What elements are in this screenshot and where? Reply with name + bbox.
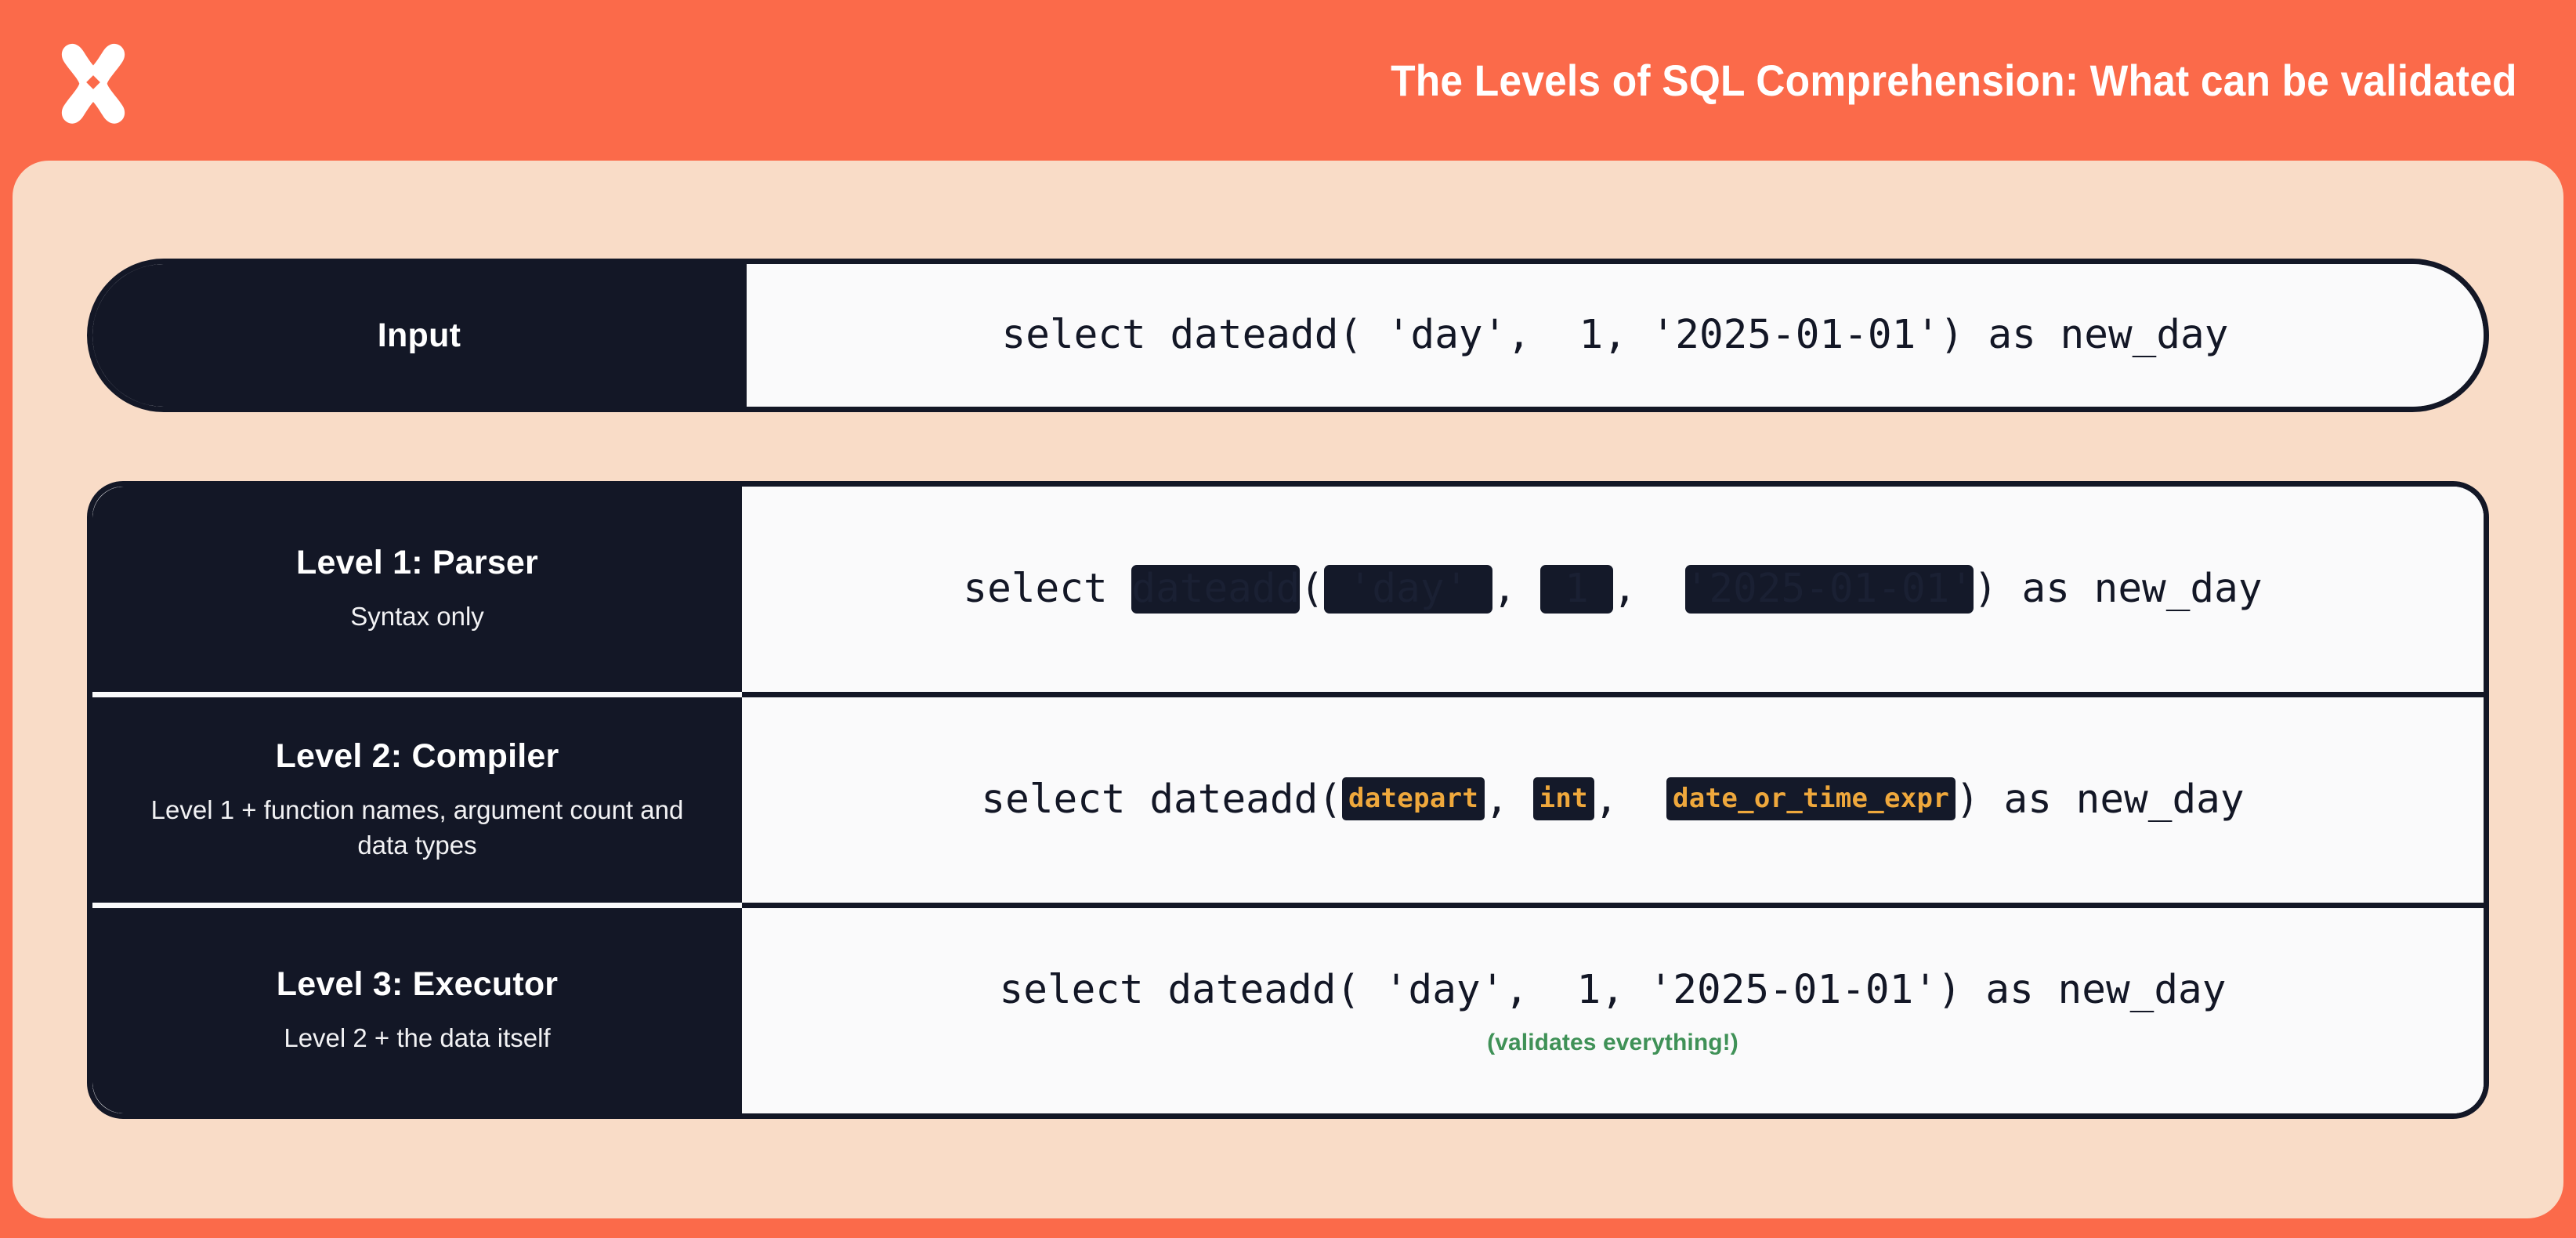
- level-title: Level 1: Parser: [296, 544, 538, 582]
- type-token: int: [1533, 777, 1594, 820]
- level-3-sql-code: select dateadd( 'day', 1, '2025-01-01') …: [1000, 965, 2227, 1015]
- type-token: date_or_time_expr: [1666, 777, 1956, 820]
- redacted-token: '2025-01-01': [1685, 565, 1974, 614]
- redacted-token: dateadd: [1131, 565, 1300, 614]
- level-2-label-cell: Level 2: Compiler Level 1 + function nam…: [92, 692, 742, 903]
- code-text: ,: [1613, 564, 1685, 614]
- level-2-code-cell: select dateadd(datepart, int, date_or_ti…: [742, 697, 2484, 903]
- level-title: Level 2: Compiler: [276, 737, 559, 776]
- validates-everything-note: (validates everything!): [1487, 1030, 1738, 1056]
- code-text: select dateadd( 'day', 1, '2025-01-01') …: [1000, 965, 2227, 1015]
- level-1-sql-code: select dateadd( 'day' , 1 , '2025-01-01'…: [963, 564, 2262, 614]
- code-text: ,: [1492, 564, 1540, 614]
- level-subtitle: Level 1 + function names, argument count…: [143, 793, 692, 863]
- level-1-label-cell: Level 1: Parser Syntax only: [92, 487, 742, 692]
- redacted-token: 1: [1540, 565, 1612, 614]
- header-bar: The Levels of SQL Comprehension: What ca…: [0, 0, 2576, 161]
- level-subtitle: Level 2 + the data itself: [284, 1021, 550, 1056]
- page-title: The Levels of SQL Comprehension: What ca…: [1391, 56, 2527, 105]
- input-sql-code: select dateadd( 'day', 1, '2025-01-01') …: [1002, 310, 2229, 360]
- level-3-code-cell: select dateadd( 'day', 1, '2025-01-01') …: [742, 908, 2484, 1113]
- code-text: (: [1300, 564, 1324, 614]
- infographic-frame: The Levels of SQL Comprehension: What ca…: [0, 0, 2576, 1238]
- redacted-token: 'day': [1324, 565, 1492, 614]
- level-1-code-cell: select dateadd( 'day' , 1 , '2025-01-01'…: [742, 487, 2484, 692]
- level-2-sql-code: select dateadd(datepart, int, date_or_ti…: [981, 775, 2244, 825]
- levels-block: Level 1: Parser Syntax only select datea…: [87, 481, 2489, 1119]
- rows-area: Input select dateadd( 'day', 1, '2025-01…: [87, 259, 2489, 1119]
- code-text: select dateadd( 'day', 1, '2025-01-01') …: [1002, 310, 2229, 360]
- code-text: ,: [1594, 775, 1666, 825]
- level-subtitle: Syntax only: [350, 599, 484, 635]
- type-token: datepart: [1342, 777, 1485, 820]
- code-text: ) as new_day: [1974, 564, 2262, 614]
- code-text: ,: [1485, 775, 1532, 825]
- level-row: Level 1: Parser Syntax only select datea…: [92, 487, 2484, 692]
- content-card: Input select dateadd( 'day', 1, '2025-01…: [13, 161, 2563, 1218]
- code-text: select: [963, 564, 1131, 614]
- level-row: Level 2: Compiler Level 1 + function nam…: [92, 692, 2484, 903]
- x-starburst-logo: [47, 36, 139, 129]
- level-3-label-cell: Level 3: Executor Level 2 + the data its…: [92, 903, 742, 1113]
- input-row-label: Input: [92, 264, 747, 407]
- level-title: Level 3: Executor: [277, 965, 559, 1004]
- input-row: Input select dateadd( 'day', 1, '2025-01…: [87, 259, 2489, 412]
- code-text: ) as new_day: [1956, 775, 2244, 825]
- input-row-code-cell: select dateadd( 'day', 1, '2025-01-01') …: [747, 264, 2484, 407]
- level-row: Level 3: Executor Level 2 + the data its…: [92, 903, 2484, 1113]
- code-text: select dateadd(: [981, 775, 1342, 825]
